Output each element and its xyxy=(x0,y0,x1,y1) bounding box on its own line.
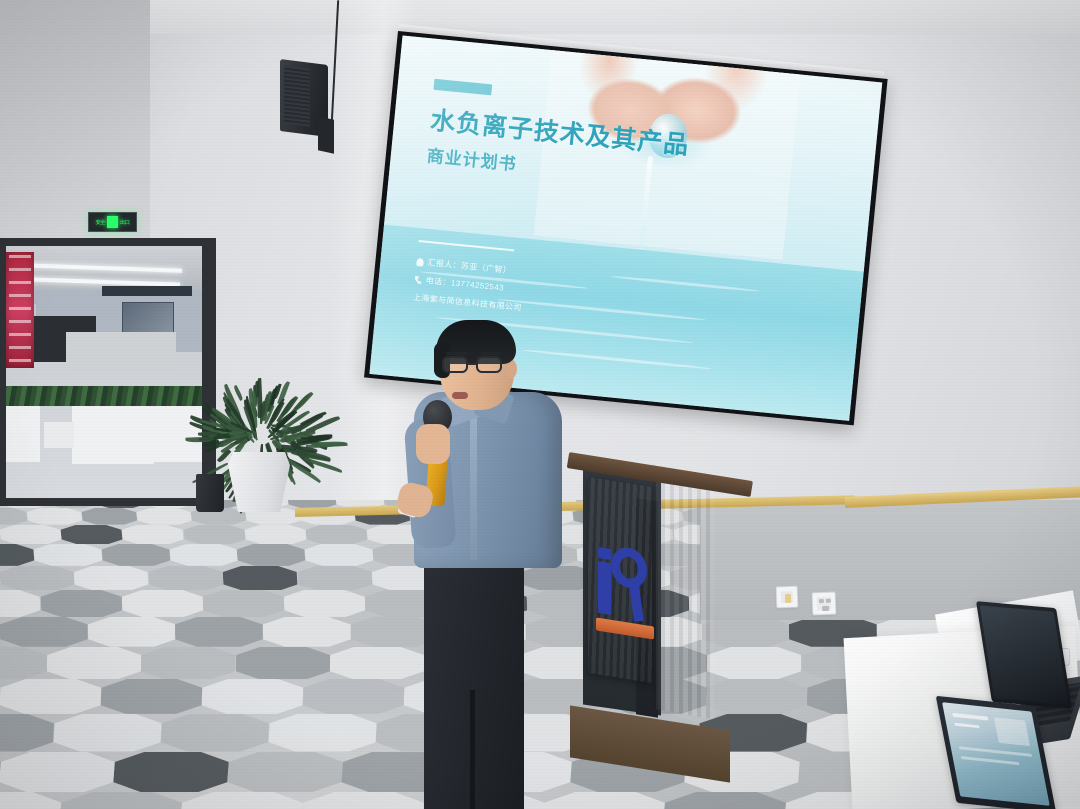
exit-sign-left-text: 安全 xyxy=(96,219,105,226)
floor-tile xyxy=(0,679,101,714)
office-area-beyond xyxy=(6,246,202,498)
floor-tile xyxy=(40,590,122,617)
planter-greenery xyxy=(6,386,202,406)
floor-tile xyxy=(60,525,123,544)
presenter-hand-holding-mic xyxy=(416,424,450,464)
floor-tile xyxy=(706,679,808,714)
floor-tile xyxy=(263,617,351,647)
presenter-trouser-seam xyxy=(470,690,475,809)
planter-box xyxy=(72,402,154,464)
floor-tile xyxy=(302,679,404,714)
office-wayfinding-sign xyxy=(102,286,192,296)
floor-tile xyxy=(0,525,62,544)
floor-tile xyxy=(297,566,373,590)
presenter-eyebrow-right xyxy=(480,352,502,355)
laptop-front-display[interactable] xyxy=(942,702,1050,806)
floor-tile xyxy=(330,647,425,679)
floor-tile xyxy=(81,508,138,525)
floor-tile xyxy=(33,544,102,566)
speaker-mount-bracket xyxy=(318,116,334,153)
floor-tile xyxy=(74,566,150,590)
floor-tile xyxy=(101,544,170,566)
glasses-icon xyxy=(440,356,510,374)
floor-tile xyxy=(304,544,373,566)
floor-tile xyxy=(183,525,246,544)
presentation-room-photo: 安全 出口 水负离子技术及其产品 商业计划书 xyxy=(0,0,1080,809)
floor-tile xyxy=(148,566,224,590)
podium-logo-letter-i xyxy=(598,561,611,615)
light-switch-plate[interactable] xyxy=(776,586,799,609)
floor-tile xyxy=(701,617,789,647)
floor-tile xyxy=(227,752,344,792)
floor-tile xyxy=(305,525,368,544)
floor-tile xyxy=(201,679,303,714)
floor-tile xyxy=(237,544,306,566)
floor-tile xyxy=(169,544,238,566)
floor-tile xyxy=(100,679,202,714)
speaker-grille xyxy=(284,66,310,127)
exit-sign-right-text: 出口 xyxy=(120,219,129,226)
presenter-shirt-placket xyxy=(470,402,477,560)
floor-tile xyxy=(175,617,263,647)
floor-tile xyxy=(26,508,83,525)
floor-tile xyxy=(160,714,270,752)
floor-tile xyxy=(136,508,193,525)
laptop-rear-screen[interactable] xyxy=(976,601,1072,709)
office-printer xyxy=(44,422,74,448)
power-outlet-plate[interactable] xyxy=(812,592,837,616)
palm-leaf xyxy=(256,378,263,418)
running-person-icon xyxy=(107,216,118,228)
office-stool xyxy=(6,432,30,458)
floor-tile xyxy=(122,525,185,544)
podium-side-panel xyxy=(652,465,714,720)
podium-logo-letter-r xyxy=(611,545,649,623)
laptop-rear-display[interactable] xyxy=(980,605,1069,704)
ceiling xyxy=(0,0,1080,34)
floor-tile xyxy=(0,752,116,792)
palm-leaf xyxy=(311,441,347,448)
planter-box xyxy=(154,398,202,462)
new-year-banner xyxy=(6,252,34,368)
floor-tile xyxy=(202,590,284,617)
podium-logo-i-dot xyxy=(598,547,611,560)
office-counter xyxy=(66,332,176,372)
floor-tile xyxy=(53,714,163,752)
floor-tile xyxy=(244,525,307,544)
floor-tile xyxy=(236,647,331,679)
floor-tile xyxy=(283,590,365,617)
plant-pot xyxy=(228,452,290,512)
floor-tile xyxy=(0,617,88,647)
floor-tile xyxy=(88,617,176,647)
presenter-eyebrow-left xyxy=(446,352,468,355)
waste-bin xyxy=(196,474,224,512)
floor-tile xyxy=(47,647,142,679)
floor-tile xyxy=(121,590,203,617)
floor-tile xyxy=(268,714,378,752)
floor-tile xyxy=(113,752,230,792)
potted-palm-foliage xyxy=(208,348,312,460)
floor-tile xyxy=(223,566,299,590)
floor-tile xyxy=(141,647,236,679)
floor-tile xyxy=(0,566,75,590)
palm-leaf xyxy=(294,391,314,412)
presenter-mouth xyxy=(452,392,468,399)
floor-tile xyxy=(707,647,802,679)
exit-sign: 安全 出口 xyxy=(88,212,137,232)
